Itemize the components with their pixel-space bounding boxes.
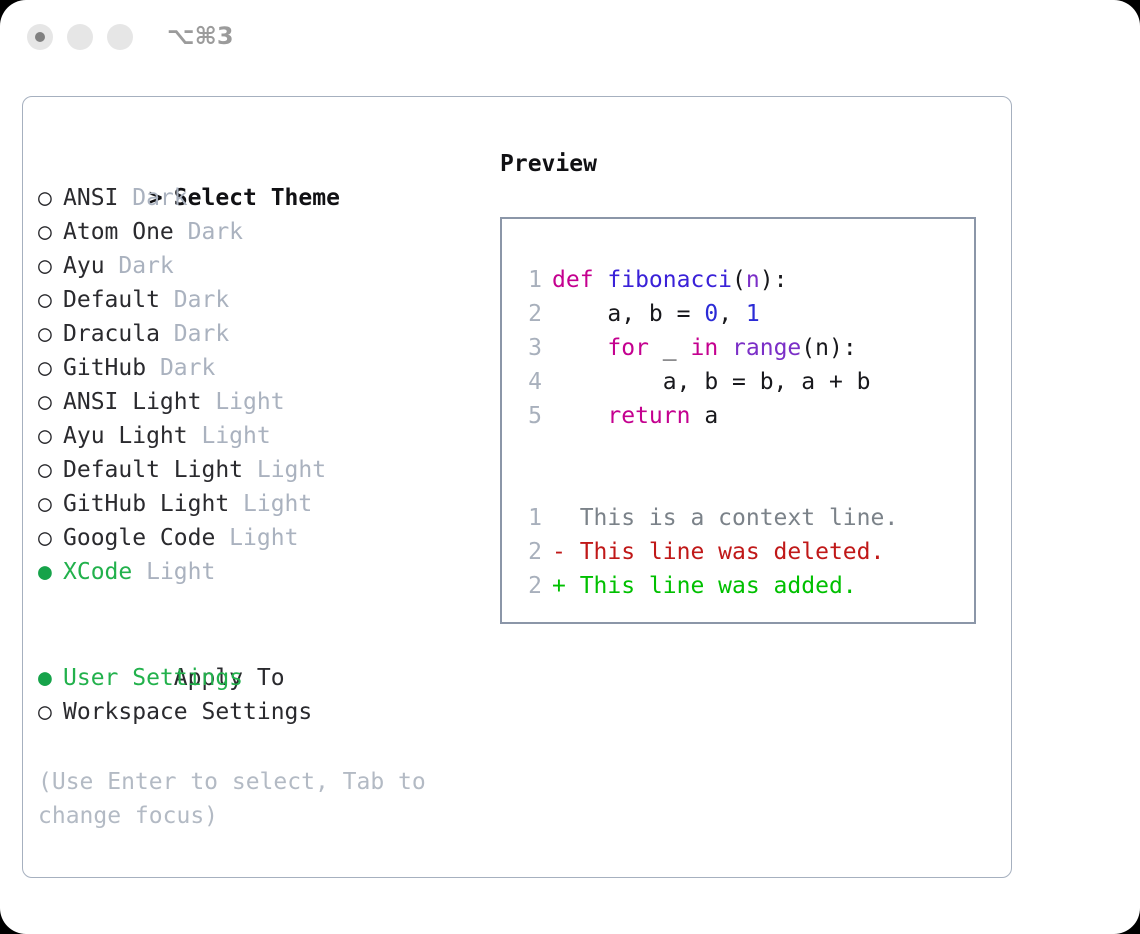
theme-list-item[interactable]: ○Default Dark (38, 283, 468, 317)
theme-category-label: Dark (160, 287, 229, 313)
radio-unselected-icon: ○ (38, 385, 63, 419)
code-token: ( (732, 267, 746, 293)
traffic-light-close-button[interactable] (27, 24, 53, 50)
code-token: n (746, 267, 760, 293)
theme-name-label: GitHub (63, 355, 146, 381)
radio-unselected-icon: ○ (38, 419, 63, 453)
theme-name-label: Ayu (63, 253, 105, 279)
radio-unselected-icon: ○ (38, 249, 63, 283)
theme-name-label: Default (63, 287, 160, 313)
radio-selected-icon: ● (38, 661, 63, 695)
code-blank-line (516, 433, 898, 467)
code-token: def (552, 267, 607, 293)
code-line-number: 2 (516, 297, 542, 331)
theme-name-label: Default Light (63, 457, 243, 483)
radio-unselected-icon: ○ (38, 215, 63, 249)
theme-name-label: XCode (63, 559, 132, 585)
theme-list-item[interactable]: ○ANSI Light Light (38, 385, 468, 419)
app-window: ⌥⌘3 >Select Theme ○ANSI Dark○Atom One Da… (0, 0, 1140, 934)
preview-title: Preview (500, 147, 1000, 181)
radio-unselected-icon: ○ (38, 283, 63, 317)
theme-list: ○ANSI Dark○Atom One Dark○Ayu Dark○Defaul… (38, 181, 468, 589)
diff-line: 2- This line was deleted. (516, 535, 898, 569)
apply-to-label: User Settings (63, 665, 243, 691)
code-line-number: 5 (516, 399, 542, 433)
theme-list-item[interactable]: ○Ayu Dark (38, 249, 468, 283)
code-line-number: 4 (516, 365, 542, 399)
diff-line-text: + This line was added. (552, 573, 857, 599)
diff-line: 1 This is a context line. (516, 501, 898, 535)
theme-list-item[interactable]: ○Dracula Dark (38, 317, 468, 351)
code-token: range (732, 335, 801, 361)
theme-category-label: Dark (105, 253, 174, 279)
traffic-light-maximize-button[interactable] (107, 24, 133, 50)
code-blank-line (516, 467, 898, 501)
code-line: 3 for _ in range(n): (516, 331, 898, 365)
theme-list-item[interactable]: ○Default Light Light (38, 453, 468, 487)
theme-list-item[interactable]: ○Google Code Light (38, 521, 468, 555)
code-line-number: 1 (516, 263, 542, 297)
code-token: ): (760, 267, 788, 293)
diff-line-number: 1 (516, 501, 542, 535)
diff-line-number: 2 (516, 569, 542, 603)
theme-list-item[interactable]: ○GitHub Light Light (38, 487, 468, 521)
theme-name-label: GitHub Light (63, 491, 229, 517)
code-line: 2 a, b = 0, 1 (516, 297, 898, 331)
theme-list-item[interactable]: ○Atom One Dark (38, 215, 468, 249)
code-token: a, b = (552, 301, 704, 327)
theme-name-label: ANSI Light (63, 389, 201, 415)
code-line: 5 return a (516, 399, 898, 433)
theme-list-item[interactable]: ○GitHub Dark (38, 351, 468, 385)
main-panel: >Select Theme ○ANSI Dark○Atom One Dark○A… (22, 96, 1012, 878)
diff-line-number: 2 (516, 535, 542, 569)
code-token: 1 (746, 301, 760, 327)
radio-selected-icon: ● (38, 555, 63, 589)
radio-unselected-icon: ○ (38, 181, 63, 215)
theme-category-label: Light (243, 457, 326, 483)
radio-unselected-icon: ○ (38, 351, 63, 385)
theme-list-item[interactable]: ○Ayu Light Light (38, 419, 468, 453)
radio-unselected-icon: ○ (38, 695, 63, 729)
code-token (552, 335, 607, 361)
select-theme-header-label: Select Theme (174, 185, 340, 211)
radio-unselected-icon: ○ (38, 521, 63, 555)
preview-column: Preview 1def fibonacci(n):2 a, b = 0, 13… (500, 147, 1000, 624)
radio-unselected-icon: ○ (38, 487, 63, 521)
title-bar: ⌥⌘3 (0, 0, 1140, 78)
code-line: 1def fibonacci(n): (516, 263, 898, 297)
code-token: _ (649, 335, 691, 361)
apply-to-header: Apply To (38, 627, 468, 661)
radio-unselected-icon: ○ (38, 453, 63, 487)
code-token: fibonacci (607, 267, 732, 293)
theme-category-label: Light (201, 389, 284, 415)
theme-category-label: Light (188, 423, 271, 449)
code-token: in (690, 335, 718, 361)
code-token: a, b = b, a + b (552, 369, 871, 395)
theme-name-label: Dracula (63, 321, 160, 347)
theme-category-label: Light (132, 559, 215, 585)
select-theme-header: >Select Theme (38, 147, 468, 181)
diff-line-text: This is a context line. (552, 505, 898, 531)
theme-name-label: ANSI (63, 185, 118, 211)
diff-line-text: - This line was deleted. (552, 539, 884, 565)
code-token: for (607, 335, 649, 361)
code-token (552, 403, 607, 429)
theme-list-item[interactable]: ●XCode Light (38, 555, 468, 589)
help-text: (Use Enter to select, Tab to change focu… (38, 765, 450, 833)
code-token: return (607, 403, 690, 429)
code-token: ): (829, 335, 857, 361)
apply-to-label: Workspace Settings (63, 699, 312, 725)
keyboard-shortcut-label: ⌥⌘3 (167, 22, 234, 50)
theme-category-label: Dark (160, 321, 229, 347)
section-spacer (38, 589, 468, 627)
code-token: 0 (704, 301, 718, 327)
code-token: a (690, 403, 718, 429)
code-line: 4 a, b = b, a + b (516, 365, 898, 399)
theme-category-label: Dark (146, 355, 215, 381)
code-token (718, 335, 732, 361)
radio-unselected-icon: ○ (38, 317, 63, 351)
theme-name-label: Atom One (63, 219, 174, 245)
theme-category-label: Dark (174, 219, 243, 245)
diff-line: 2+ This line was added. (516, 569, 898, 603)
theme-name-label: Ayu Light (63, 423, 188, 449)
code-preview: 1def fibonacci(n):2 a, b = 0, 13 for _ i… (516, 263, 898, 603)
traffic-light-minimize-button[interactable] (67, 24, 93, 50)
code-token: n (815, 335, 829, 361)
theme-selector-column: >Select Theme ○ANSI Dark○Atom One Dark○A… (38, 147, 468, 833)
theme-category-label: Light (215, 525, 298, 551)
traffic-light-dot-icon (35, 32, 45, 42)
code-token: ( (801, 335, 815, 361)
apply-to-list-item[interactable]: ○Workspace Settings (38, 695, 468, 729)
theme-category-label: Dark (118, 185, 187, 211)
theme-category-label: Light (229, 491, 312, 517)
preview-box: 1def fibonacci(n):2 a, b = 0, 13 for _ i… (500, 217, 976, 624)
code-token: , (718, 301, 746, 327)
code-line-number: 3 (516, 331, 542, 365)
theme-name-label: Google Code (63, 525, 215, 551)
